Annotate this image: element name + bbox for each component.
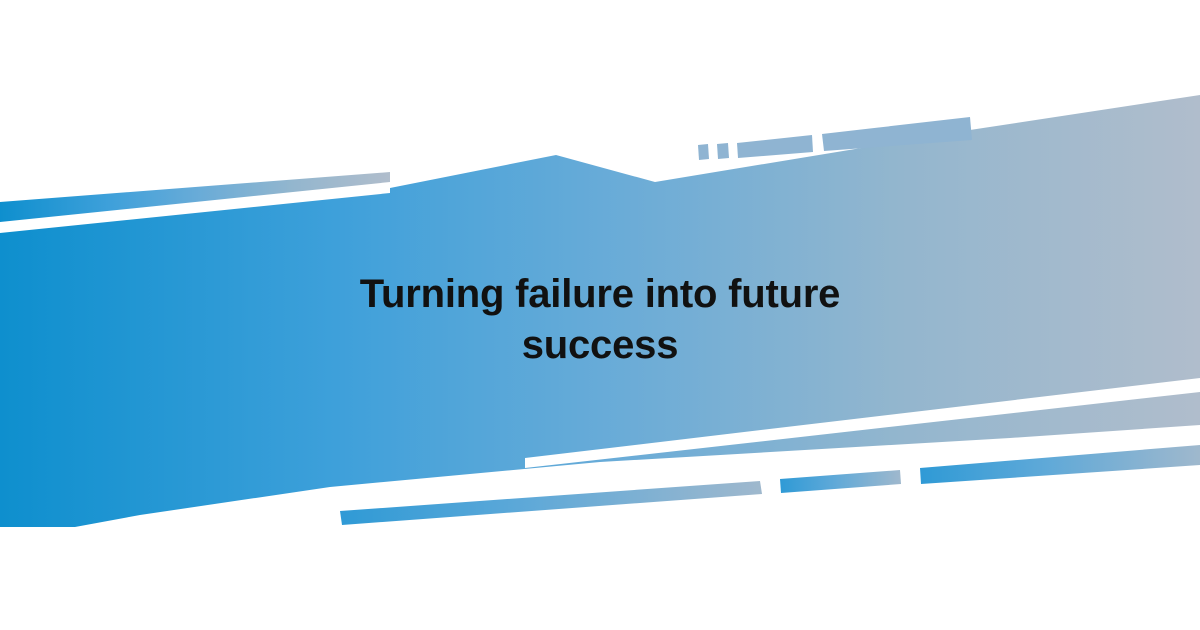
bottom-bar-left-shape — [340, 481, 762, 525]
banner-graphic-card: Turning failure into future success — [0, 0, 1200, 630]
top-dash-small-1-shape — [698, 144, 709, 160]
decorative-background-artwork — [0, 0, 1200, 630]
top-dash-medium-shape — [737, 135, 813, 158]
bottom-bar-far-right-shape — [920, 445, 1200, 484]
bottom-bar-right-shape — [780, 470, 901, 493]
top-dash-small-2-shape — [717, 143, 729, 159]
